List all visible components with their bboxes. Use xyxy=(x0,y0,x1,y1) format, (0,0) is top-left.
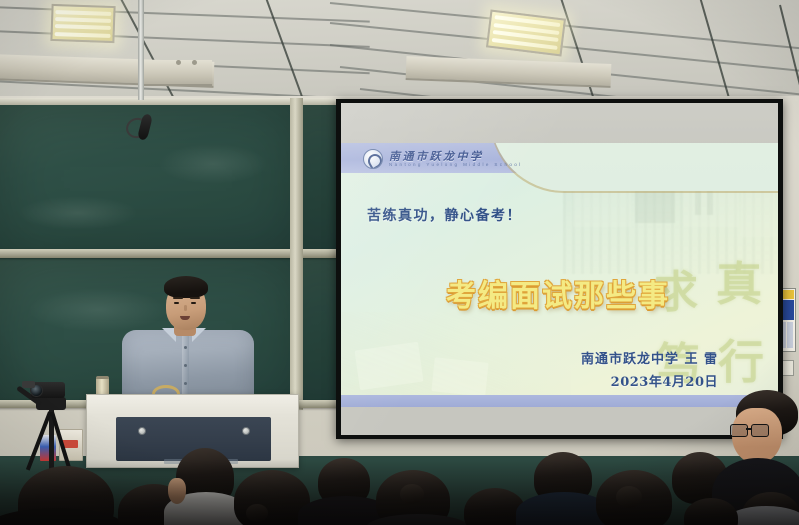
microphone-pole xyxy=(138,0,144,100)
classroom-lecture-scene: 登记 通报 求 xyxy=(0,0,799,525)
lecturer-brow-left xyxy=(173,297,183,299)
glasses-lens-right-icon xyxy=(751,424,769,437)
screen-surface: 求 真 笃 行 南通市跃龙中学 Nantong Yuelong Middle S… xyxy=(341,103,778,435)
slide-title: 考编面试那些事 xyxy=(446,271,670,315)
lecturer-eye-right xyxy=(191,302,196,304)
blackboard-right-upper xyxy=(302,104,338,254)
school-name-en: Nantong Yuelong Middle School xyxy=(389,162,523,167)
slide-author: 南通市跃龙中学 王 雷 xyxy=(581,348,718,367)
podium-screw-left xyxy=(138,427,146,435)
slide-date: 2023年4月20日 xyxy=(611,371,718,390)
slide-watermark-char-2: 真 xyxy=(716,261,762,307)
ceiling-light-right xyxy=(486,10,566,57)
ceiling-light-left xyxy=(50,4,115,43)
slide-watermark-desk xyxy=(341,312,571,407)
audience-bun-4 xyxy=(246,504,268,522)
lecturer-brow-right xyxy=(190,297,200,299)
slide-footer-band xyxy=(341,395,778,407)
presentation-slide: 求 真 笃 行 南通市跃龙中学 Nantong Yuelong Middle S… xyxy=(341,143,778,407)
school-emblem-icon xyxy=(363,149,383,169)
audience-bun-6 xyxy=(400,484,424,504)
camera-viewfinder xyxy=(22,381,35,388)
slide-subtitle: 苦练真功，静心备考！ xyxy=(367,205,522,225)
slide-header-curve xyxy=(491,143,778,191)
blackboard-mid-rail xyxy=(0,249,340,258)
podium-screw-right xyxy=(242,427,250,435)
blackboard-divider-post xyxy=(290,98,303,410)
lecturer-nose xyxy=(184,305,187,311)
glasses-bridge xyxy=(746,428,751,430)
lecturer xyxy=(118,274,268,404)
audience-bun-9 xyxy=(616,486,642,508)
glasses-icon xyxy=(730,424,748,437)
audience-face-3 xyxy=(168,478,186,504)
blackboard-right-lower xyxy=(302,258,338,406)
blackboard-top-cap xyxy=(0,98,340,105)
slide-watermark-char-4: 行 xyxy=(718,339,764,385)
lecturer-eye-left xyxy=(174,302,179,304)
projection-screen: 求 真 笃 行 南通市跃龙中学 Nantong Yuelong Middle S… xyxy=(336,99,783,439)
lecturer-hair xyxy=(164,276,208,298)
